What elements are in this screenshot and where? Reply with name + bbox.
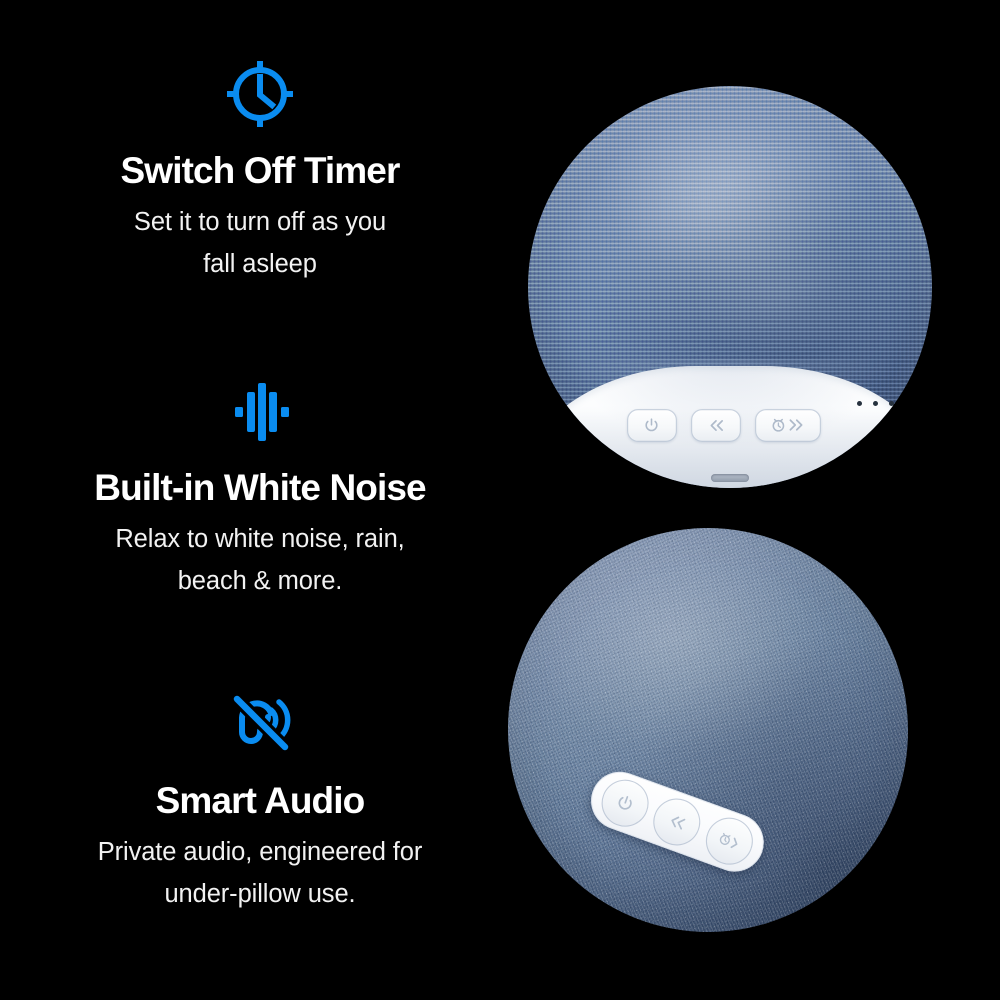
feature-description-line-2: under-pillow use. (164, 880, 355, 908)
feature-description-line-2: fall asleep (203, 250, 317, 278)
speaker-button-row-front (627, 409, 821, 442)
product-image-speaker-front (528, 86, 932, 488)
feature-block-switch-off-timer: Switch Off Timer Set it to turn off as y… (0, 58, 520, 285)
feature-description: Private audio, engineered for under-pill… (98, 832, 423, 915)
product-feature-graphic: Switch Off Timer Set it to turn off as y… (0, 0, 1000, 1000)
speaker-fabric-front (528, 86, 932, 488)
feature-description-line-1: Relax to white noise, rain, (115, 525, 404, 553)
feature-title: Built-in White Noise (94, 467, 425, 508)
rewind-button[interactable] (647, 791, 707, 851)
feature-title: Switch Off Timer (121, 150, 400, 191)
product-image-speaker-top (508, 528, 908, 932)
feature-block-built-in-white-noise: Built-in White Noise Relax to white nois… (0, 375, 520, 602)
rewind-button[interactable] (691, 409, 741, 442)
feature-description-line-2: beach & more. (178, 567, 343, 595)
feature-block-smart-audio: Smart Audio Private audio, engineered fo… (0, 688, 520, 915)
alarm-forward-button[interactable] (755, 409, 821, 442)
led-dot (889, 401, 894, 406)
led-dot (857, 401, 862, 406)
sound-wave-icon (224, 375, 296, 447)
feature-description: Set it to turn off as you fall asleep (134, 202, 386, 285)
usb-c-port (711, 474, 749, 482)
hearing-off-icon (224, 688, 296, 760)
led-indicator-dots (857, 401, 894, 406)
led-dot (873, 401, 878, 406)
speaker-fabric-top (488, 508, 928, 952)
feature-title: Smart Audio (156, 780, 365, 821)
feature-description-line-1: Private audio, engineered for (98, 838, 423, 866)
feature-description: Relax to white noise, rain, beach & more… (115, 519, 404, 602)
denim-highlight (488, 508, 928, 952)
feature-description-line-1: Set it to turn off as you (134, 208, 386, 236)
alarm-forward-button[interactable] (699, 810, 759, 870)
clock-icon (224, 58, 296, 130)
power-button[interactable] (595, 772, 655, 832)
power-button[interactable] (627, 409, 677, 442)
feature-list: Switch Off Timer Set it to turn off as y… (0, 0, 520, 1000)
